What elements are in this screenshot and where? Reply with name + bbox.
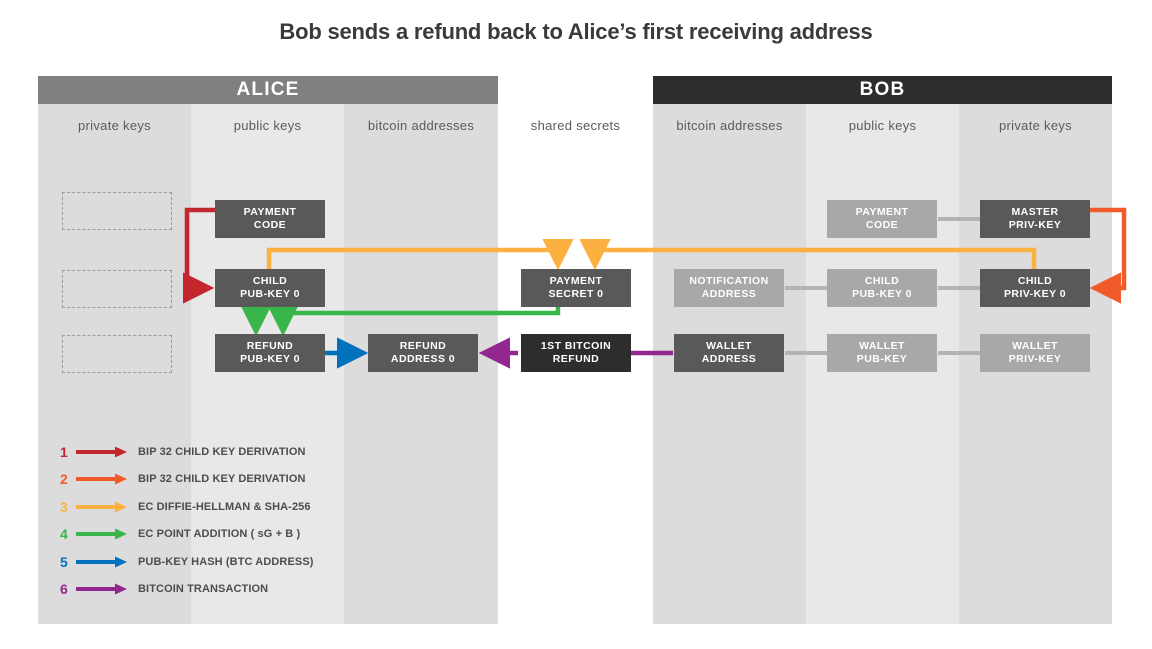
arrow-amber-ecdh-alice (269, 250, 558, 270)
node-line-2: REFUND (553, 353, 599, 367)
legend-arrow-4-icon (74, 527, 130, 541)
node-bob-wallet-pubkey[interactable]: WALLET PUB-KEY (827, 334, 937, 372)
node-bob-master-privkey[interactable]: MASTER PRIV-KEY (980, 200, 1090, 238)
node-line-2: CODE (254, 219, 286, 233)
legend-number-6: 6 (60, 581, 74, 597)
node-line-2: PRIV-KEY (1009, 353, 1062, 367)
legend-arrow-5-icon (74, 555, 130, 569)
node-bob-child-pubkey-0[interactable]: CHILD PUB-KEY 0 (827, 269, 937, 307)
node-line-1: PAYMENT (856, 206, 909, 220)
legend-item-2: 2 BIP 32 CHILD KEY DERIVATION (60, 466, 314, 494)
legend-label-2: BIP 32 CHILD KEY DERIVATION (138, 473, 306, 485)
alice-private-key-placeholder-3 (62, 335, 172, 373)
node-line-2: PUB-KEY 0 (240, 353, 300, 367)
node-line-1: CHILD (253, 275, 287, 289)
node-line-1: MASTER (1011, 206, 1058, 220)
node-line-1: 1ST BITCOIN (541, 340, 611, 354)
node-line-2: PUB-KEY 0 (852, 288, 912, 302)
node-line-1: CHILD (1018, 275, 1052, 289)
node-alice-payment-code[interactable]: PAYMENT CODE (215, 200, 325, 238)
legend-arrow-1-icon (74, 445, 130, 459)
arrow-orange-bip32-bob (1089, 210, 1124, 288)
node-line-2: ADDRESS (702, 288, 757, 302)
node-bob-notification-address[interactable]: NOTIFICATION ADDRESS (674, 269, 784, 307)
node-line-1: PAYMENT (550, 275, 603, 289)
legend-arrow-2-icon (74, 472, 130, 486)
legend: 1 BIP 32 CHILD KEY DERIVATION 2 BIP 32 C… (60, 438, 314, 603)
node-line-1: REFUND (247, 340, 293, 354)
node-line-2: PRIV-KEY (1009, 219, 1062, 233)
legend-label-6: BITCOIN TRANSACTION (138, 583, 268, 595)
arrow-amber-ecdh-bob (595, 250, 1034, 270)
legend-item-1: 1 BIP 32 CHILD KEY DERIVATION (60, 438, 314, 466)
legend-item-3: 3 EC DIFFIE-HELLMAN & SHA-256 (60, 493, 314, 521)
node-alice-refund-address-0[interactable]: REFUND ADDRESS 0 (368, 334, 478, 372)
node-line-2: CODE (866, 219, 898, 233)
node-line-2: ADDRESS (702, 353, 757, 367)
node-line-1: WALLET (1012, 340, 1058, 354)
legend-arrow-3-icon (74, 500, 130, 514)
alice-private-key-placeholder-1 (62, 192, 172, 230)
legend-item-5: 5 PUB-KEY HASH (BTC ADDRESS) (60, 548, 314, 576)
node-shared-first-bitcoin-refund[interactable]: 1ST BITCOIN REFUND (521, 334, 631, 372)
node-bob-wallet-privkey[interactable]: WALLET PRIV-KEY (980, 334, 1090, 372)
legend-label-3: EC DIFFIE-HELLMAN & SHA-256 (138, 501, 311, 513)
legend-number-4: 4 (60, 526, 74, 542)
node-line-1: PAYMENT (244, 206, 297, 220)
node-line-2: ADDRESS 0 (391, 353, 455, 367)
node-alice-child-pubkey-0[interactable]: CHILD PUB-KEY 0 (215, 269, 325, 307)
legend-item-4: 4 EC POINT ADDITION ( sG + B ) (60, 521, 314, 549)
legend-label-5: PUB-KEY HASH (BTC ADDRESS) (138, 556, 314, 568)
node-bob-wallet-address[interactable]: WALLET ADDRESS (674, 334, 784, 372)
legend-label-4: EC POINT ADDITION ( sG + B ) (138, 528, 300, 540)
node-line-1: WALLET (706, 340, 752, 354)
legend-number-1: 1 (60, 444, 74, 460)
node-bob-payment-code[interactable]: PAYMENT CODE (827, 200, 937, 238)
legend-arrow-6-icon (74, 582, 130, 596)
legend-number-2: 2 (60, 471, 74, 487)
node-line-2: SECRET 0 (549, 288, 604, 302)
node-line-1: CHILD (865, 275, 899, 289)
node-alice-refund-pubkey-0[interactable]: REFUND PUB-KEY 0 (215, 334, 325, 372)
node-line-1: NOTIFICATION (689, 275, 768, 289)
arrow-red-bip32-alice (187, 210, 215, 288)
node-line-1: REFUND (400, 340, 446, 354)
alice-private-key-placeholder-2 (62, 270, 172, 308)
node-bob-child-privkey-0[interactable]: CHILD PRIV-KEY 0 (980, 269, 1090, 307)
legend-item-6: 6 BITCOIN TRANSACTION (60, 576, 314, 604)
node-shared-payment-secret-0[interactable]: PAYMENT SECRET 0 (521, 269, 631, 307)
node-line-1: WALLET (859, 340, 905, 354)
node-line-2: PRIV-KEY 0 (1004, 288, 1066, 302)
arrow-green-ecadd-from-secret (283, 307, 558, 330)
diagram-canvas: Bob sends a refund back to Alice’s first… (0, 0, 1152, 649)
node-line-2: PUB-KEY (857, 353, 907, 367)
legend-number-3: 3 (60, 499, 74, 515)
node-line-2: PUB-KEY 0 (240, 288, 300, 302)
legend-label-1: BIP 32 CHILD KEY DERIVATION (138, 446, 306, 458)
legend-number-5: 5 (60, 554, 74, 570)
